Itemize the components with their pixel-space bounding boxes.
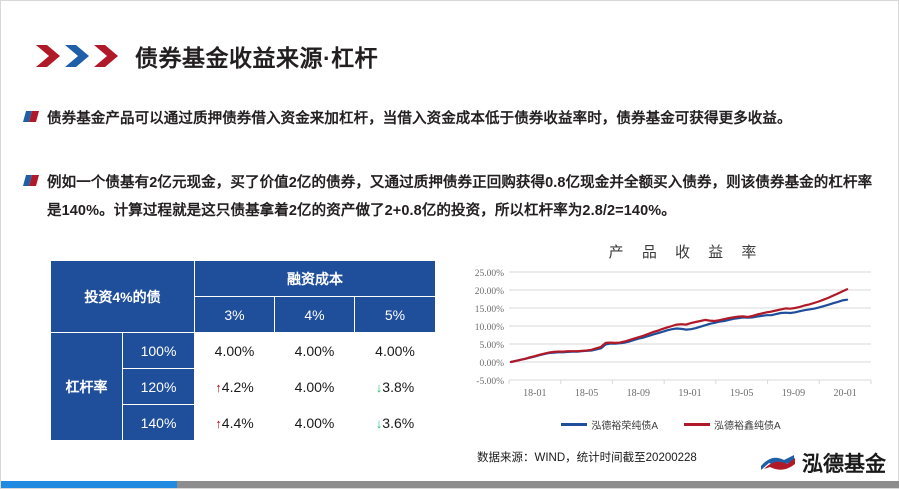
svg-text:19-05: 19-05 — [730, 388, 753, 399]
cell-value: 4.00% — [295, 379, 335, 395]
svg-text:5.00%: 5.00% — [479, 341, 504, 351]
table-row-label-2: 140% — [123, 405, 195, 441]
progress-indicator — [1, 481, 177, 488]
table-col-header-0: 3% — [195, 297, 275, 333]
bullet-item-2: 例如一个债基有2亿元现金，买了价值2亿的债券，又通过质押债券正回购获得0.8亿现… — [23, 169, 881, 225]
chart-canvas: -5.00%0.00%5.00%10.00%15.00%20.00%25.00%… — [461, 264, 881, 416]
bullet-text-1: 债券基金产品可以通过质押债券借入资金来加杠杆，当借入资金成本低于债券收益率时，债… — [47, 105, 792, 133]
table-row-header-group: 投资4%的债 融资成本 — [51, 261, 436, 297]
table-col-header-1: 4% — [275, 297, 355, 333]
table-cell-2-0: ↑4.4% — [195, 405, 275, 441]
legend-swatch-line — [561, 423, 587, 426]
performance-chart-panel: 产 品 收 益 率 -5.00%0.00%5.00%10.00%15.00%20… — [461, 241, 881, 441]
svg-text:-5.00%: -5.00% — [476, 377, 504, 387]
source-note: 数据来源：WIND，统计时间截至20200228 — [477, 449, 697, 465]
slide-root: 债券基金收益来源·杠杆 债券基金产品可以通过质押债券借入资金来加杠杆，当借入资金… — [0, 0, 899, 489]
svg-text:20.00%: 20.00% — [475, 287, 504, 297]
table-row: 杠杆率 100% 4.00% 4.00% 4.00% — [51, 333, 436, 369]
svg-text:18-09: 18-09 — [627, 388, 650, 399]
legend-item-1: 泓德裕鑫纯债A — [684, 417, 781, 432]
bullet-marker-icon — [23, 175, 39, 186]
table-cell-0-1: 4.00% — [275, 333, 355, 369]
legend-item-0: 泓德裕荣纯债A — [561, 417, 658, 432]
company-logo: 泓德基金 — [760, 448, 886, 478]
svg-text:15.00%: 15.00% — [475, 305, 504, 315]
table-group-header: 融资成本 — [195, 261, 436, 297]
table-row-group-label: 杠杆率 — [51, 333, 123, 441]
cell-value: 4.00% — [375, 343, 415, 359]
page-title: 债券基金收益来源·杠杆 — [135, 39, 378, 73]
table-row-label-0: 100% — [123, 333, 195, 369]
chart-title: 产 品 收 益 率 — [461, 241, 881, 262]
svg-text:19-01: 19-01 — [678, 388, 701, 399]
svg-text:18-05: 18-05 — [575, 388, 598, 399]
table-cell-1-0: ↑4.2% — [195, 369, 275, 405]
wave-logo-icon — [760, 452, 796, 474]
chart-legend: 泓德裕荣纯债A 泓德裕鑫纯债A — [461, 417, 881, 432]
table-cell-2-2: ↓3.6% — [355, 405, 436, 441]
table-cell-1-2: ↓3.8% — [355, 369, 436, 405]
svg-text:10.00%: 10.00% — [475, 323, 504, 333]
chevron-right-icon-3 — [93, 42, 121, 70]
leverage-table: 投资4%的债 融资成本 3% 4% 5% 杠杆率 100% 4.00% 4.00… — [50, 260, 436, 441]
cell-value: 4.00% — [295, 343, 335, 359]
cell-value: 3.8% — [382, 379, 414, 395]
bullet-marker-icon — [23, 111, 39, 122]
chevron-group — [35, 42, 121, 70]
table-row-label-1: 120% — [123, 369, 195, 405]
svg-text:18-01: 18-01 — [523, 388, 546, 399]
chevron-right-icon-2 — [64, 42, 92, 70]
svg-text:20-01: 20-01 — [833, 388, 856, 399]
leverage-table-wrapper: 投资4%的债 融资成本 3% 4% 5% 杠杆率 100% 4.00% 4.00… — [50, 260, 435, 441]
legend-label-1: 泓德裕鑫纯债A — [714, 417, 781, 432]
cell-value: 4.00% — [295, 415, 335, 431]
cell-value: 4.2% — [222, 379, 254, 395]
slide-title-row: 债券基金收益来源·杠杆 — [35, 39, 378, 73]
table-cell-1-1: 4.00% — [275, 369, 355, 405]
cell-value: 3.6% — [382, 415, 414, 431]
cell-value: 4.00% — [215, 343, 255, 359]
legend-label-0: 泓德裕荣纯债A — [591, 417, 658, 432]
table-corner-label: 投资4%的债 — [51, 261, 195, 333]
table-cell-0-0: 4.00% — [195, 333, 275, 369]
svg-text:0.00%: 0.00% — [479, 359, 504, 369]
svg-text:25.00%: 25.00% — [475, 269, 504, 279]
bullet-item-1: 债券基金产品可以通过质押债券借入资金来加杠杆，当借入资金成本低于债券收益率时，债… — [23, 105, 881, 133]
table-col-header-2: 5% — [355, 297, 436, 333]
table-cell-0-2: 4.00% — [355, 333, 436, 369]
cell-value: 4.4% — [222, 415, 254, 431]
logo-text: 泓德基金 — [802, 448, 886, 478]
chevron-right-icon-1 — [35, 42, 63, 70]
bullet-text-2: 例如一个债基有2亿元现金，买了价值2亿的债券，又通过质押债券正回购获得0.8亿现… — [47, 169, 881, 225]
svg-text:19-09: 19-09 — [782, 388, 805, 399]
legend-swatch-line — [684, 423, 710, 426]
table-cell-2-1: 4.00% — [275, 405, 355, 441]
